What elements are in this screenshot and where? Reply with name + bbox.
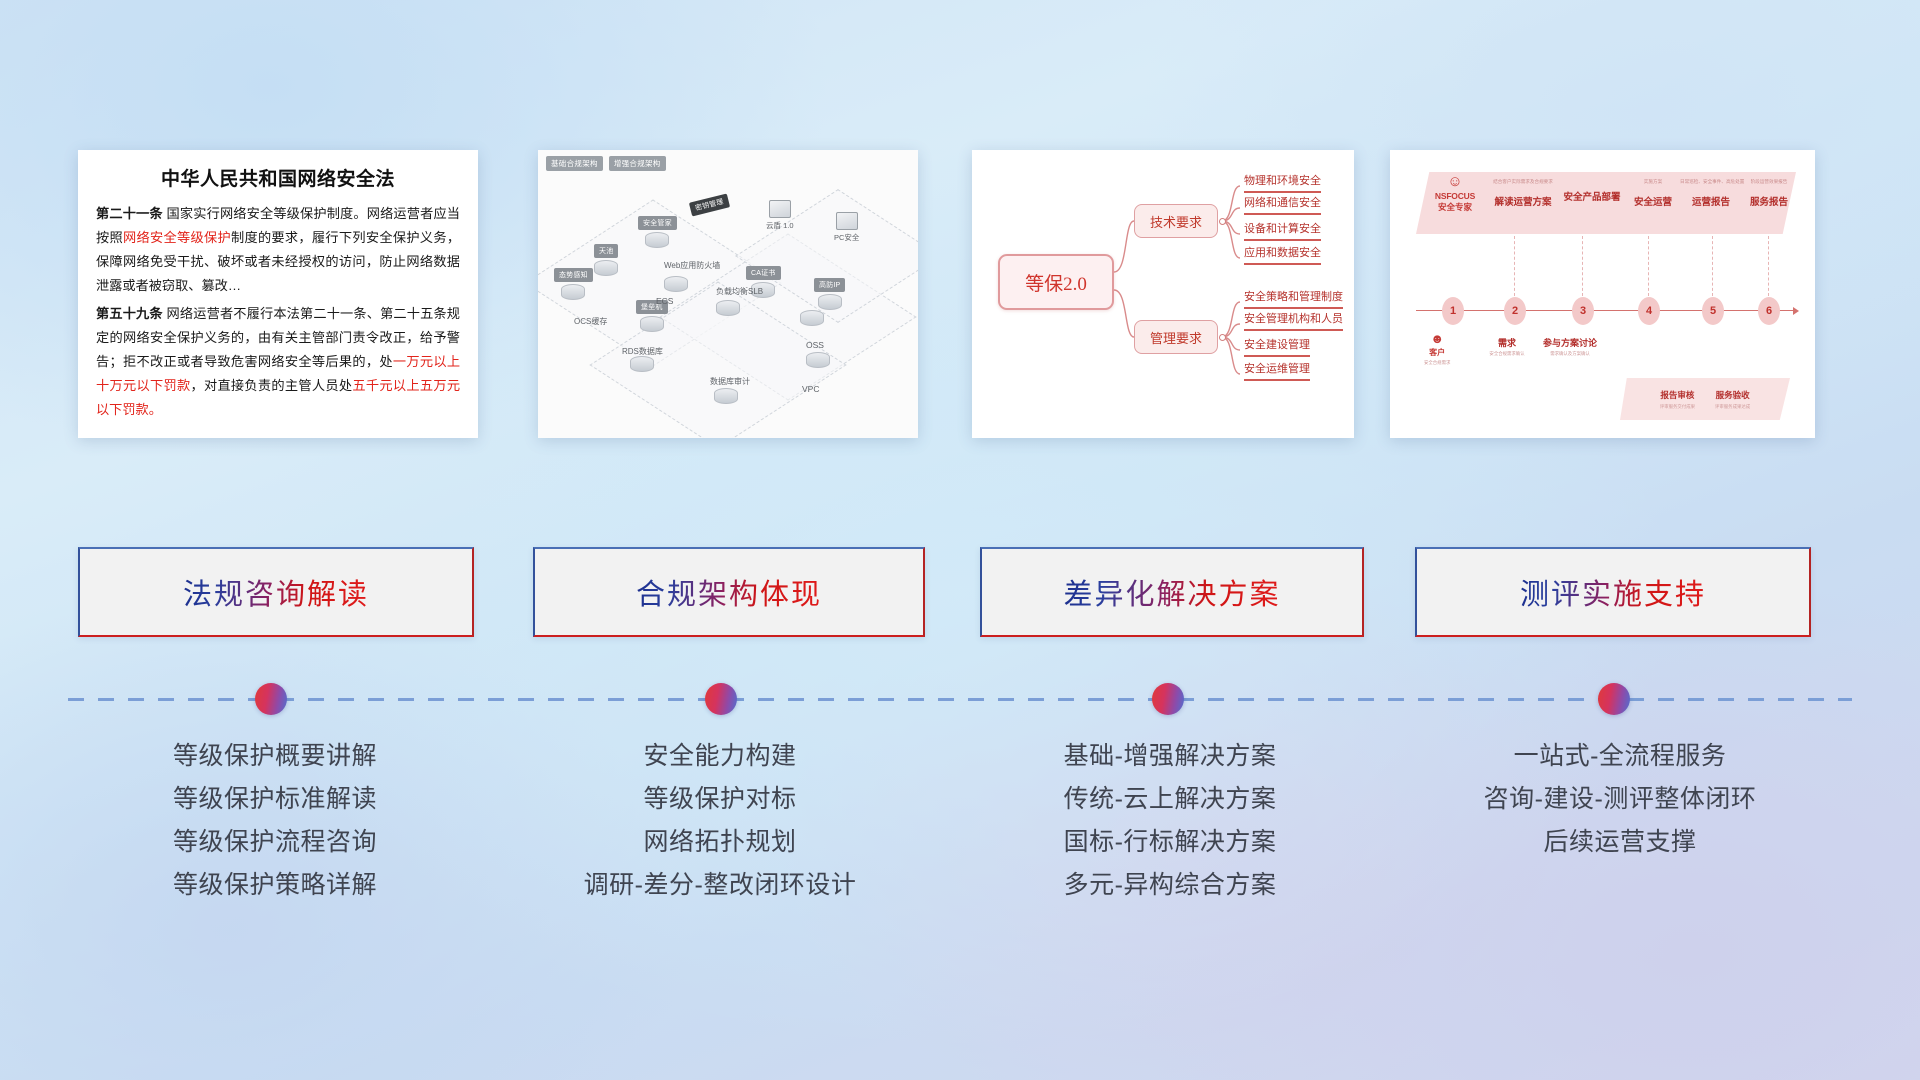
list-item: 咨询-建设-测评整体闭环: [1400, 778, 1840, 821]
nsfocus-step-marker: 1: [1442, 297, 1464, 325]
architecture-tag-row: 基础合规架构 增强合规架构: [546, 156, 666, 171]
timeline-dot-4[interactable]: [1598, 683, 1630, 715]
mindmap-leaf: 设备和计算安全: [1244, 223, 1321, 241]
section-title-label: 合规架构体现: [636, 571, 822, 613]
step-sub: 阶段运营效果报告: [1738, 180, 1800, 185]
mindmap-root: 等保2.0: [998, 254, 1114, 310]
nsfocus-top-step: 阶段运营效果报告 服务报告: [1738, 180, 1800, 208]
node-label: 负载均衡SLB: [716, 286, 763, 297]
step-title: 解读运营方案: [1486, 194, 1560, 208]
list-item: 等级保护对标: [505, 778, 935, 821]
nsfocus-step-marker: 3: [1572, 297, 1594, 325]
nsfocus-timeline: ☺ NSFOCUS 安全专家 结合客户实际需求及合规要求 解读运营方案 安全产品…: [1390, 150, 1815, 438]
step-dropline: [1712, 236, 1713, 296]
nsfocus-customer: ☻ 客户 安全合规需求: [1424, 332, 1450, 366]
section-items-1: 等级保护概要讲解 等级保护标准解读 等级保护流程咨询 等级保护策略详解: [60, 735, 490, 907]
node-shape: [806, 352, 830, 368]
step-title: 安全运营: [1622, 194, 1684, 208]
node-shape: [818, 294, 842, 310]
node-label: CA证书: [746, 266, 781, 280]
nsfocus-step-marker: 4: [1638, 297, 1660, 325]
mindmap-joint: [1219, 334, 1226, 341]
section-title-label: 测评实施支持: [1520, 571, 1706, 613]
architecture-node: 天池: [594, 244, 618, 276]
architecture-node: 云盾 1.0: [766, 200, 794, 231]
law-run: ，对直接负责的主管人员处: [190, 378, 352, 393]
step-title: 报告审核: [1660, 389, 1695, 401]
node-label: 云盾 1.0: [766, 220, 794, 231]
node-label: 密钥管理: [689, 194, 730, 217]
nsfocus-top-step: 日常巡检、安全事件、高危处置 运营报告: [1680, 180, 1742, 208]
node-shape: [594, 260, 618, 276]
section-title-label: 法规咨询解读: [183, 571, 369, 613]
timeline-dot-3[interactable]: [1152, 683, 1184, 715]
step-title: 参与方案讨论: [1534, 336, 1606, 349]
nsfocus-top-step: 实施方案 安全运营: [1622, 180, 1684, 208]
node-label: PC安全: [834, 232, 859, 243]
mindmap-branch-tech: 技术要求: [1134, 204, 1218, 238]
list-item: 等级保护流程咨询: [60, 821, 490, 864]
brand-line-2: 安全专家: [1428, 201, 1482, 213]
law-article-label: 第五十九条: [96, 306, 163, 321]
node-shape: [800, 310, 824, 326]
list-item: 传统-云上解决方案: [950, 778, 1390, 821]
tray-cell: 报告审核 评审服务交付成果: [1660, 389, 1695, 410]
list-item: 网络拓扑规划: [505, 821, 935, 864]
list-item: 基础-增强解决方案: [950, 735, 1390, 778]
list-item: 等级保护策略详解: [60, 864, 490, 907]
customer-title: 客户: [1424, 347, 1450, 358]
timeline-dot-1[interactable]: [255, 683, 287, 715]
step-dropline: [1514, 236, 1515, 296]
mindmap-leaf: 物理和环境安全: [1244, 175, 1321, 193]
mindmap-leaf: 网络和通信安全: [1244, 197, 1321, 215]
node-shape: [630, 356, 654, 372]
law-card-title: 中华人民共和国网络安全法: [96, 164, 460, 191]
brand-line-1: NSFOCUS: [1428, 191, 1482, 201]
step-dropline: [1648, 236, 1649, 296]
mindmap-leaf: 安全管理机构和人员: [1244, 313, 1343, 331]
compliance-architecture-card: 基础合规架构 增强合规架构 态势感知 天池 安全管家 堡垒机 密钥管理: [538, 150, 918, 438]
architecture-diagram: 基础合规架构 增强合规架构 态势感知 天池 安全管家 堡垒机 密钥管理: [538, 150, 918, 438]
node-label: OCS缓存: [574, 316, 607, 327]
list-item: 等级保护概要讲解: [60, 735, 490, 778]
step-sub: 评审服务交付成果: [1660, 404, 1695, 410]
law-article-label: 第二十一条: [96, 206, 163, 221]
architecture-node-shape: [800, 310, 824, 326]
node-shape: [645, 232, 669, 248]
law-paragraph-2: 第五十九条 网络运营者不履行本法第二十一条、第二十五条规定的网络安全保护义务的，…: [96, 302, 460, 422]
node-shape: [716, 300, 740, 316]
architecture-node-shape: [714, 388, 738, 404]
mindmap-leaf: 安全建设管理: [1244, 339, 1310, 357]
step-title: 安全产品部署: [1560, 189, 1624, 203]
architecture-node-shape: [630, 356, 654, 372]
list-item: 安全能力构建: [505, 735, 935, 778]
nsfocus-axis: [1416, 310, 1794, 311]
node-shape: [664, 276, 688, 292]
node-label: 高防IP: [814, 278, 845, 292]
list-item: 调研-差分-整改闭环设计: [505, 864, 935, 907]
node-label: 数据库审计: [710, 376, 750, 387]
nsfocus-step-marker: 2: [1504, 297, 1526, 325]
list-item: 国标-行标解决方案: [950, 821, 1390, 864]
step-title: 需求: [1482, 336, 1532, 349]
nsfocus-bottom-step: 需求 安全合规需求确认: [1482, 336, 1532, 357]
node-shape: [561, 284, 585, 300]
section-items-4: 一站式-全流程服务 咨询-建设-测评整体闭环 后续运营支撑: [1400, 735, 1840, 864]
list-item: 后续运营支撑: [1400, 821, 1840, 864]
architecture-node: 态势感知: [554, 268, 593, 300]
section-title-box-2[interactable]: 合规架构体现: [533, 547, 925, 637]
architecture-node: 高防IP: [814, 278, 845, 310]
nsfocus-top-step: 结合客户实际需求及合规要求 解读运营方案: [1486, 180, 1560, 208]
mindmap-joint: [1219, 218, 1226, 225]
dengbao-mindmap-card: 等保2.0 技术要求 物理和环境安全 网络和通信安全 设备和计算安全 应用和数据…: [972, 150, 1354, 438]
mindmap-branch-mgmt: 管理要求: [1134, 320, 1218, 354]
architecture-node-shape: [664, 276, 688, 292]
nsfocus-step-marker: 6: [1758, 297, 1780, 325]
step-sub: 结合客户实际需求及合规要求: [1486, 180, 1560, 185]
architecture-tag: 基础合规架构: [546, 156, 603, 171]
nsfocus-bottom-tray: 报告审核 评审服务交付成果 服务验收 评审服务成果达成: [1620, 378, 1790, 420]
node-label: Web应用防火墙: [664, 260, 720, 271]
step-sub: 需求确认及方案确认: [1534, 351, 1606, 357]
nsfocus-top-step: 安全产品部署: [1560, 180, 1624, 203]
architecture-tag: 增强合规架构: [609, 156, 666, 171]
node-label: 态势感知: [554, 268, 593, 282]
nsfocus-timeline-card: ☺ NSFOCUS 安全专家 结合客户实际需求及合规要求 解读运营方案 安全产品…: [1390, 150, 1815, 438]
timeline-dot-2[interactable]: [705, 683, 737, 715]
node-shape: [836, 212, 858, 230]
list-item: 一站式-全流程服务: [1400, 735, 1840, 778]
step-title: 运营报告: [1680, 194, 1742, 208]
step-dropline: [1768, 236, 1769, 296]
list-item: 多元-异构综合方案: [950, 864, 1390, 907]
section-title-box-3[interactable]: 差异化解决方案: [980, 547, 1364, 637]
nsfocus-step-marker: 5: [1702, 297, 1724, 325]
customer-person-icon: ☻: [1424, 332, 1450, 345]
law-text-card: 中华人民共和国网络安全法 第二十一条 国家实行网络安全等级保护制度。网络运营者应…: [78, 150, 478, 438]
mindmap-leaf: 安全运维管理: [1244, 363, 1310, 381]
expert-person-icon: ☺: [1428, 174, 1482, 189]
step-sub: 实施方案: [1622, 180, 1684, 185]
architecture-node-shape: [806, 352, 830, 368]
slide-stage: 中华人民共和国网络安全法 第二十一条 国家实行网络安全等级保护制度。网络运营者应…: [0, 0, 1920, 1080]
node-label: ECS: [656, 296, 673, 306]
tray-cell: 服务验收 评审服务成果达成: [1715, 389, 1750, 410]
law-card-body: 第二十一条 国家实行网络安全等级保护制度。网络运营者应当按照网络安全等级保护制度…: [96, 202, 460, 422]
section-title-box-4[interactable]: 测评实施支持: [1415, 547, 1811, 637]
step-sub: 日常巡检、安全事件、高危处置: [1680, 180, 1742, 185]
step-sub: 安全合规需求确认: [1482, 351, 1532, 357]
step-title: 服务验收: [1715, 389, 1750, 401]
architecture-node-shape: [716, 300, 740, 316]
node-label: 安全管家: [638, 216, 677, 230]
dashed-timeline: [68, 698, 1852, 701]
architecture-node: 密钥管理: [689, 194, 730, 217]
section-title-box-1[interactable]: 法规咨询解读: [78, 547, 474, 637]
step-sub: 评审服务成果达成: [1715, 404, 1750, 410]
law-paragraph-1: 第二十一条 国家实行网络安全等级保护制度。网络运营者应当按照网络安全等级保护制度…: [96, 202, 460, 298]
mindmap-leaf: 安全策略和管理制度: [1244, 291, 1343, 309]
node-label: 天池: [594, 244, 618, 258]
nsfocus-brand: ☺ NSFOCUS 安全专家: [1428, 174, 1482, 213]
architecture-node: PC安全: [834, 212, 859, 243]
section-title-label: 差异化解决方案: [1063, 571, 1280, 613]
node-label: OSS: [806, 340, 824, 350]
node-shape: [769, 200, 791, 218]
node-shape: [714, 388, 738, 404]
customer-sub: 安全合规需求: [1424, 360, 1450, 366]
architecture-node: 安全管家: [638, 216, 677, 248]
section-items-2: 安全能力构建 等级保护对标 网络拓扑规划 调研-差分-整改闭环设计: [505, 735, 935, 907]
section-items-3: 基础-增强解决方案 传统-云上解决方案 国标-行标解决方案 多元-异构综合方案: [950, 735, 1390, 907]
node-shape: [640, 316, 664, 332]
mindmap-leaf: 应用和数据安全: [1244, 247, 1321, 265]
list-item: 等级保护标准解读: [60, 778, 490, 821]
step-dropline: [1582, 236, 1583, 296]
node-label: VPC: [802, 384, 819, 394]
step-title: 服务报告: [1738, 194, 1800, 208]
nsfocus-bottom-step: 参与方案讨论 需求确认及方案确认: [1534, 336, 1606, 357]
law-run-highlight: 网络安全等级保护: [123, 230, 231, 245]
mindmap: 等保2.0 技术要求 物理和环境安全 网络和通信安全 设备和计算安全 应用和数据…: [972, 150, 1354, 438]
